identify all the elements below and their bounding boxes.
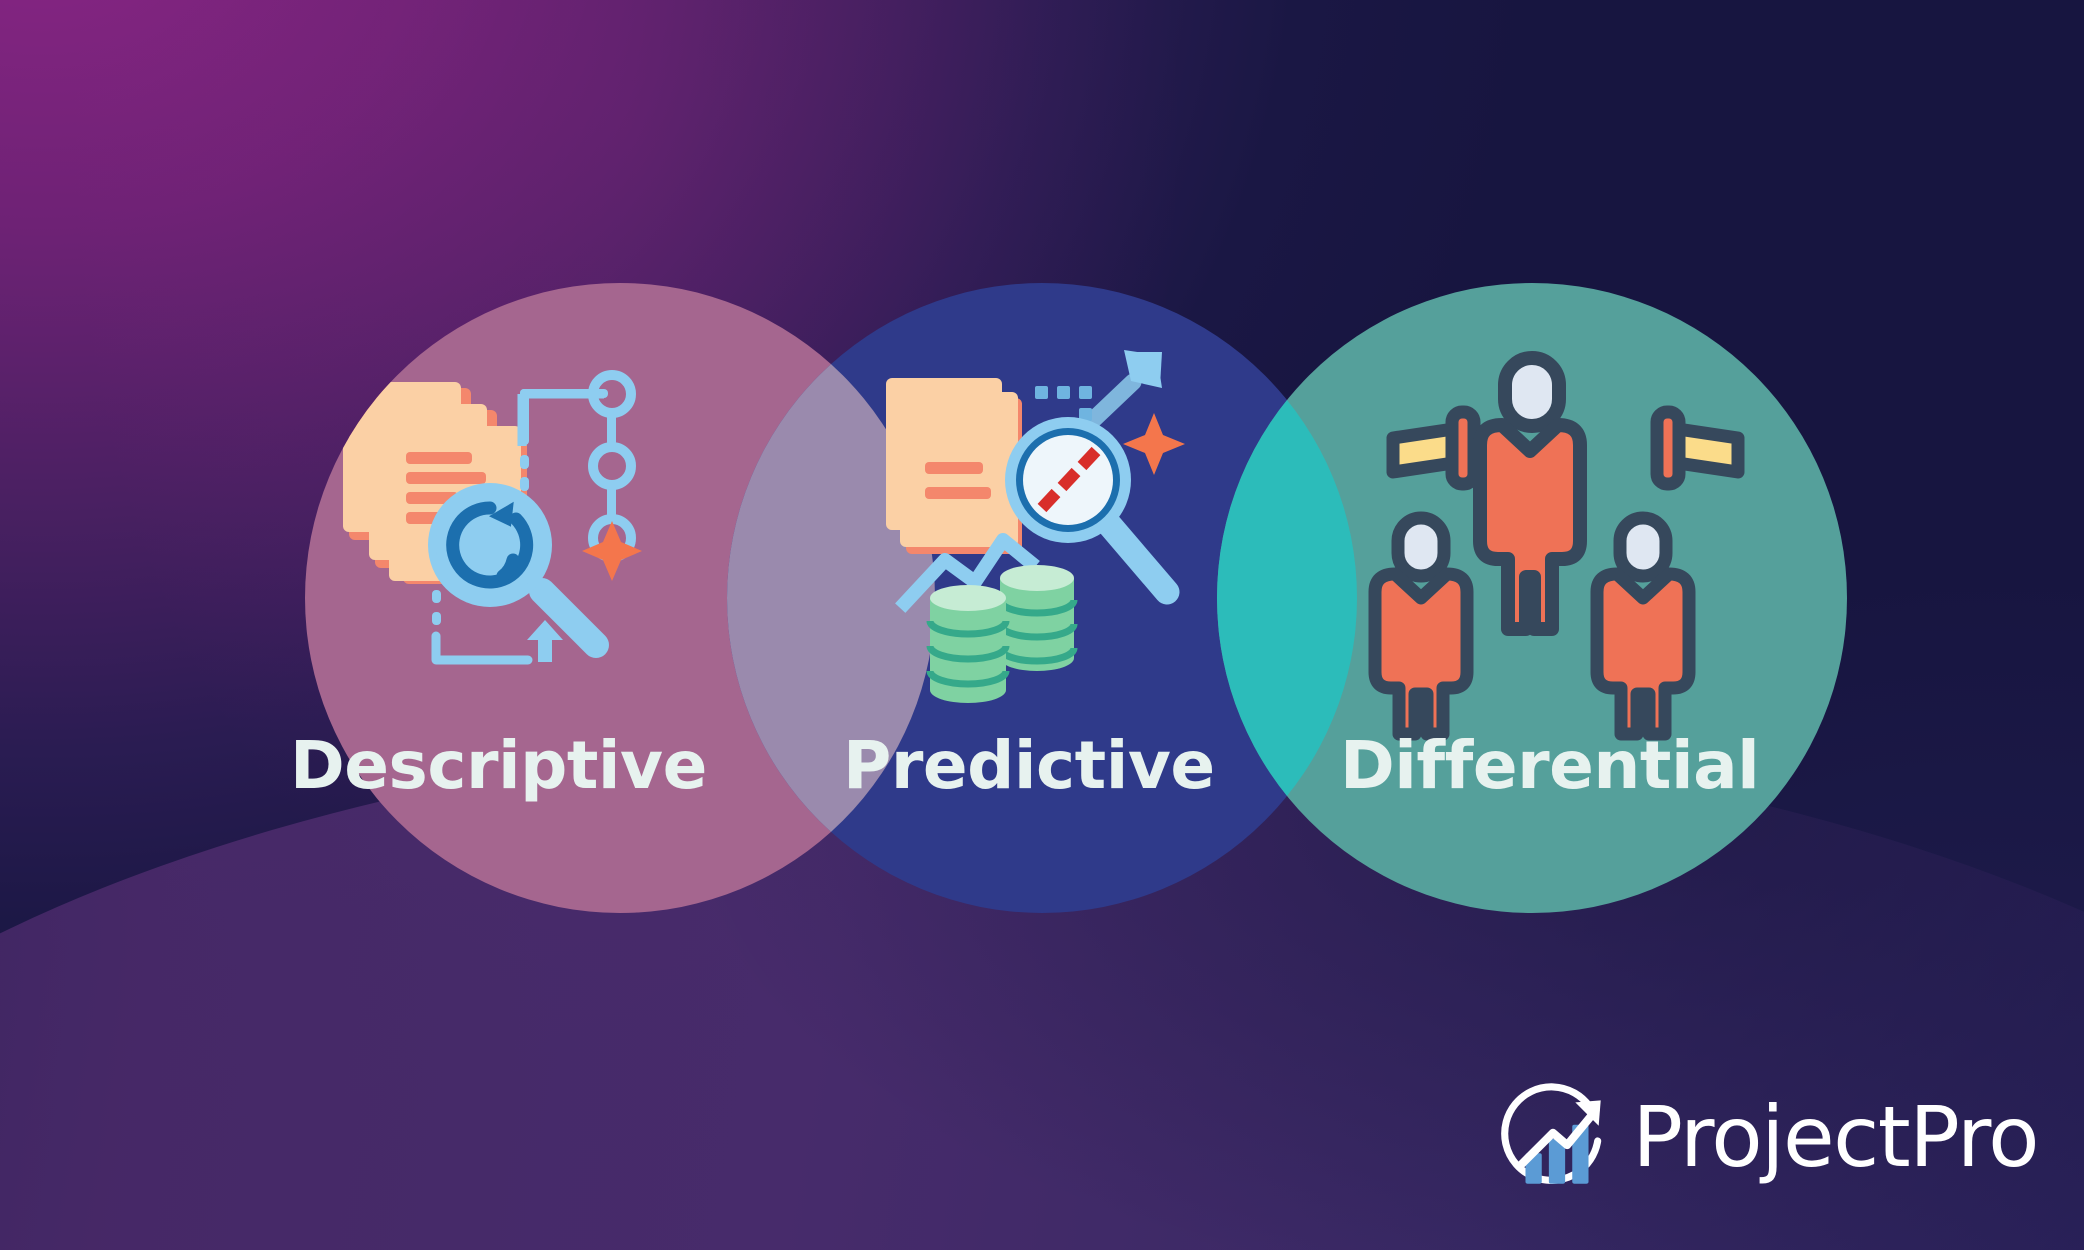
projectpro-growth-circle-icon [1496,1080,1618,1202]
label-predictive: Predictive [843,727,1215,804]
doc-line [406,452,472,464]
infographic-canvas: Descriptive Predictive Differential Proj… [0,0,2084,1250]
brand-logo[interactable]: ProjectPro [1496,1080,2038,1202]
doc-line [406,472,486,484]
label-differential: Differential [1340,727,1759,804]
venn-diagram [0,0,2084,1250]
brand-name: ProjectPro [1632,1095,2038,1187]
documents-pair-icon [886,378,1022,554]
label-descriptive: Descriptive [290,727,707,804]
doc-line [925,462,983,474]
doc-line [925,487,991,499]
